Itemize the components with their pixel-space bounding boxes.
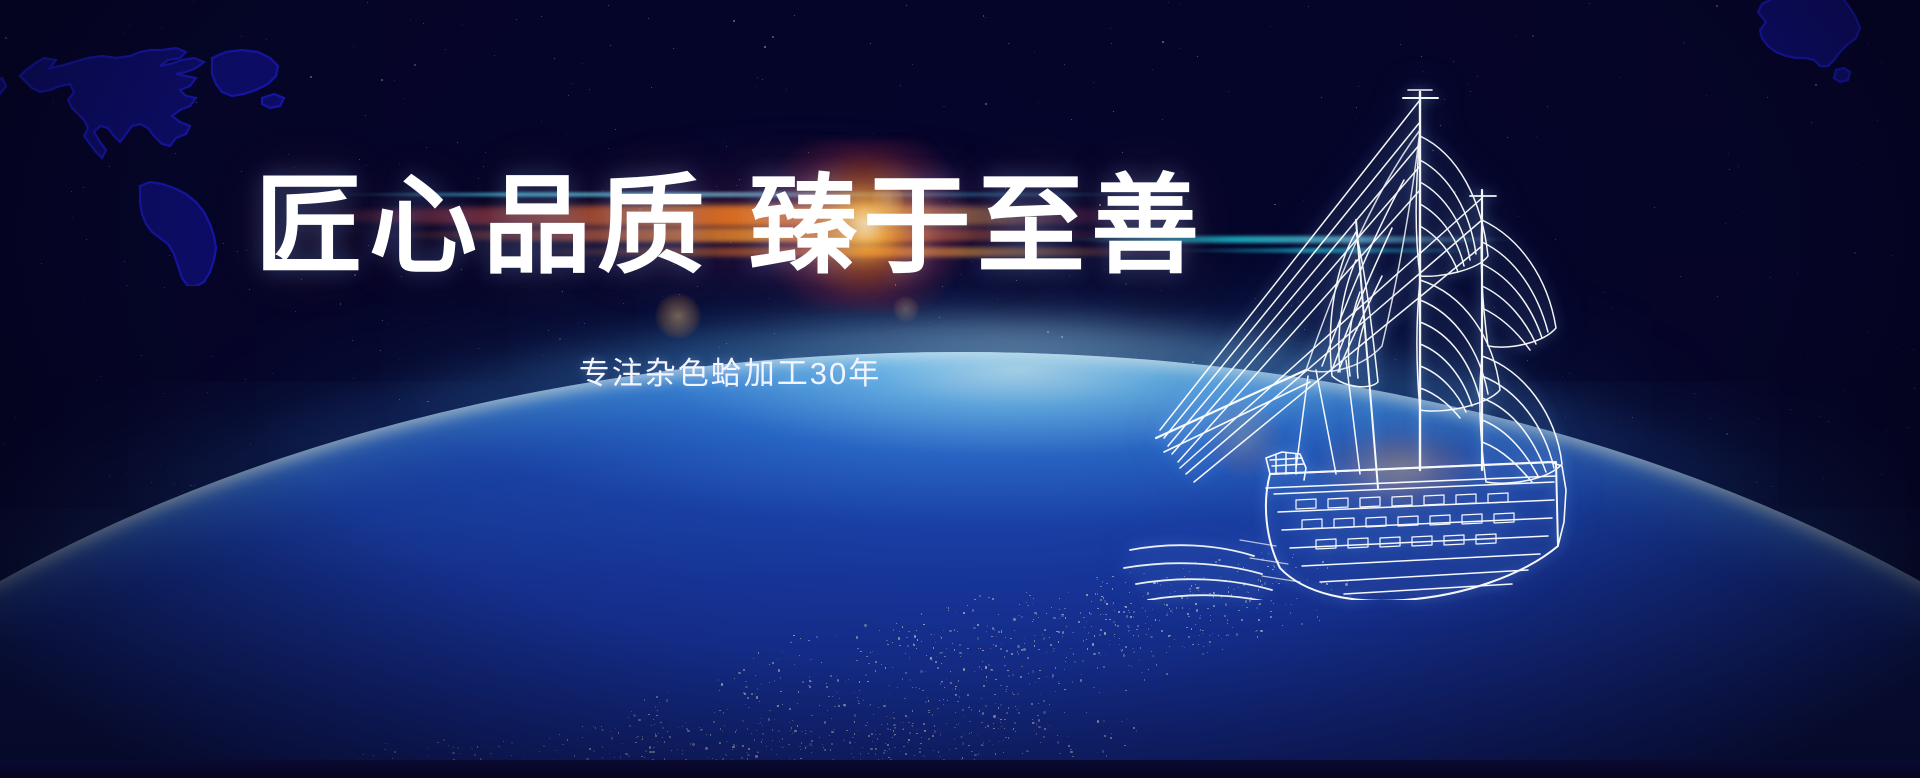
- flare-ghost-2: [655, 293, 701, 339]
- ship-illustration: [1120, 70, 1590, 600]
- line-art-sailing-ship: [1120, 70, 1590, 600]
- headline-part-1: 匠心品质: [255, 165, 711, 286]
- flare-ghost-3: [893, 296, 919, 322]
- bottom-band: [0, 760, 1920, 778]
- banner-root: 匠心品质臻于至善 专注杂色蛤加工30年: [0, 0, 1920, 778]
